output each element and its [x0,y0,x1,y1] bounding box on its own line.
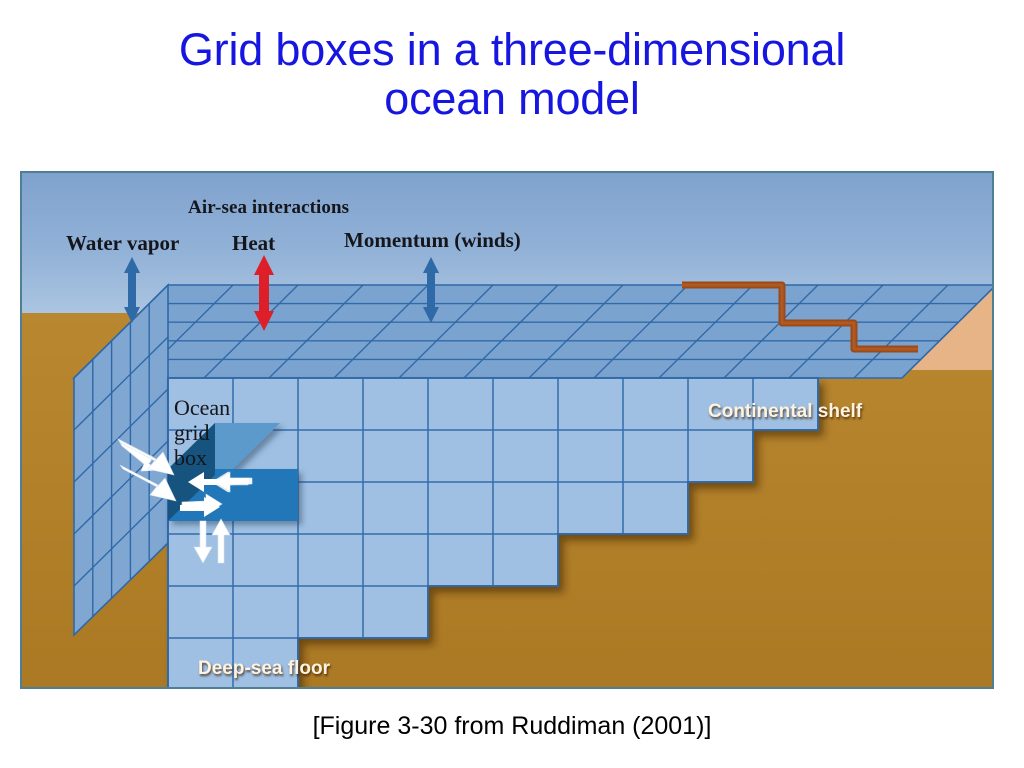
page-title: Grid boxes in a three-dimensional ocean … [0,26,1024,123]
ocean-grid-box-line-2: grid [174,420,230,445]
label-water-vapor: Water vapor [66,231,179,256]
ocean-grid-box-line-3: box [174,445,230,470]
label-air-sea-interactions: Air-sea interactions [188,197,349,219]
label-continental-shelf: Continental shelf [708,401,862,423]
title-line-2: ocean model [0,75,1024,124]
title-line-1: Grid boxes in a three-dimensional [179,24,845,75]
label-ocean-grid-box: Ocean grid box [174,395,230,470]
ocean-grid-box-line-1: Ocean [174,395,230,420]
figure-panel: Air-sea interactions Water vapor Heat Mo… [20,171,994,689]
figure-canvas: Air-sea interactions Water vapor Heat Mo… [22,173,992,687]
label-momentum-winds: Momentum (winds) [344,228,521,253]
label-deep-sea-floor: Deep-sea floor [198,658,330,680]
slide: Grid boxes in a three-dimensional ocean … [0,0,1024,768]
figure-caption: [Figure 3-30 from Ruddiman (2001)] [0,712,1024,741]
label-heat: Heat [232,231,275,256]
